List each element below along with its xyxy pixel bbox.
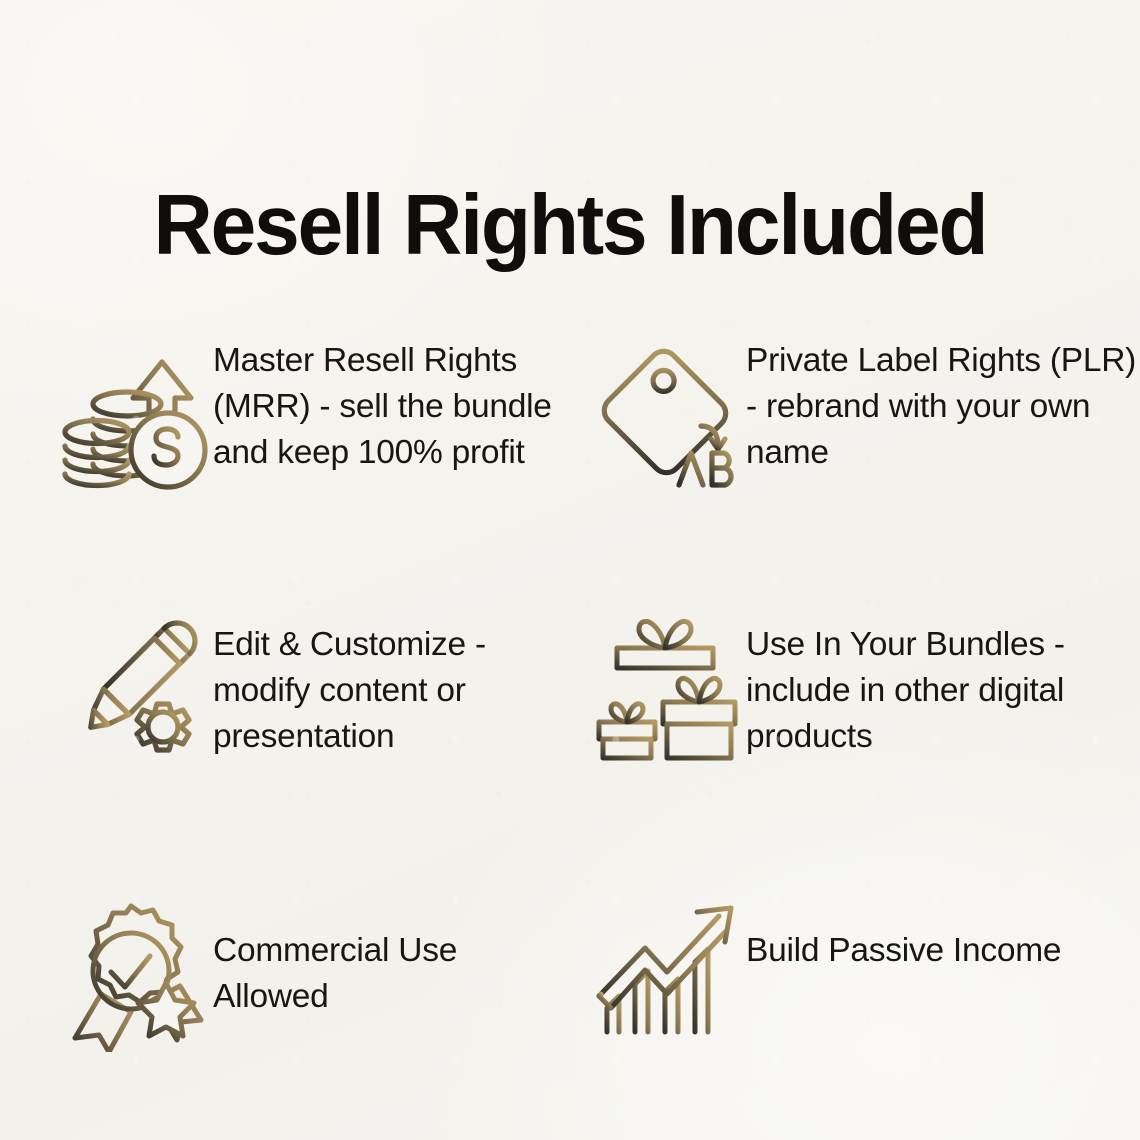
- page-title: Resell Rights Included: [20, 183, 1120, 268]
- gift-boxes-icon: [588, 616, 746, 776]
- features-row: Master Resell Rights (MRR) - sell the bu…: [0, 318, 1140, 610]
- features-row: Commercial Use Allowed: [0, 900, 1140, 1100]
- price-tag-rebrand-icon: [588, 340, 746, 500]
- poster-canvas: Resell Rights Included: [0, 0, 1140, 1140]
- feature-label: Use In Your Bundles - include in other d…: [746, 620, 1140, 760]
- feature-item-private-label-rights: Private Label Rights (PLR) - rebrand wit…: [575, 318, 1140, 610]
- features-row: Edit & Customize - modify content or pre…: [0, 610, 1140, 900]
- feature-item-edit-customize: Edit & Customize - modify content or pre…: [0, 610, 575, 900]
- feature-item-use-in-bundles: Use In Your Bundles - include in other d…: [575, 610, 1140, 900]
- features-grid: Master Resell Rights (MRR) - sell the bu…: [0, 318, 1140, 1100]
- coins-arrow-dollar-icon: [58, 340, 213, 500]
- feature-label: Commercial Use Allowed: [213, 926, 575, 1020]
- feature-label: Edit & Customize - modify content or pre…: [213, 620, 575, 760]
- feature-label: Build Passive Income: [746, 926, 1140, 974]
- feature-label: Private Label Rights (PLR) - rebrand wit…: [746, 336, 1140, 476]
- feature-label: Master Resell Rights (MRR) - sell the bu…: [213, 336, 575, 476]
- feature-item-commercial-use: Commercial Use Allowed: [0, 900, 575, 1100]
- feature-item-master-resell-rights: Master Resell Rights (MRR) - sell the bu…: [0, 318, 575, 610]
- award-badge-check-icon: [58, 900, 213, 1060]
- growth-chart-arrow-icon: [588, 900, 746, 1060]
- pencil-gear-icon: [58, 616, 213, 776]
- feature-item-build-passive-income: Build Passive Income: [575, 900, 1140, 1100]
